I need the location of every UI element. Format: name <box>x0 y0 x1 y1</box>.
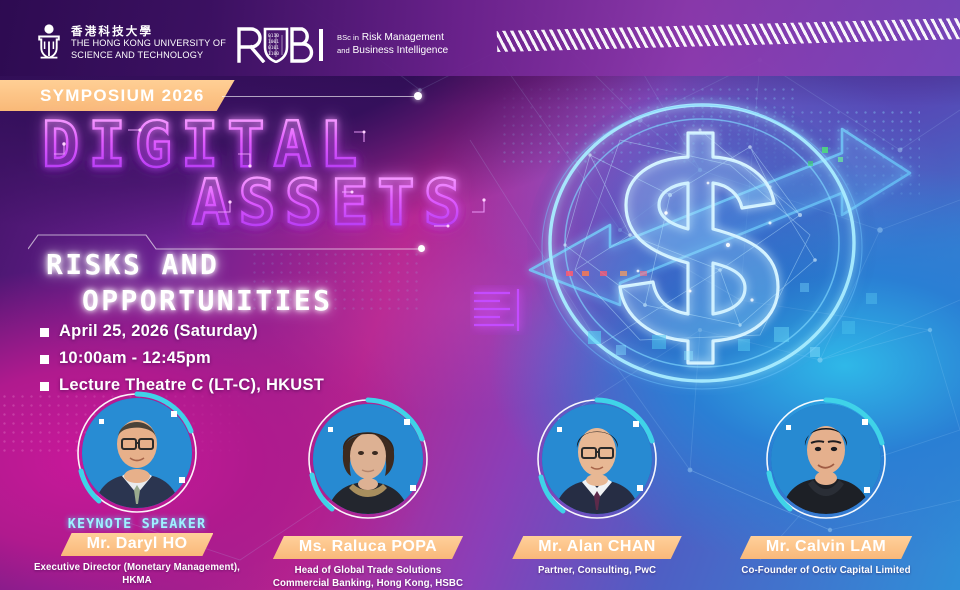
speaker-title: Partner, Consulting, PwC <box>482 564 712 577</box>
rmbi-tagline-main1: Risk Management <box>362 32 444 43</box>
subtitle-line1: RISKS AND <box>46 248 219 281</box>
speaker-photo-wrap <box>82 398 192 508</box>
rmbi-logo: 0110 1001 0101 1100 BSc in Risk Manageme… <box>237 27 448 61</box>
hkust-logo: 香港科技大學 THE HONG KONG UNIVERSITY OF SCIEN… <box>36 24 226 62</box>
rmbi-wordmark: 0110 1001 0101 1100 <box>237 27 329 61</box>
speaker-list: KEYNOTE SPEAKER Mr. Daryl HO Executive D… <box>0 398 960 590</box>
speaker-photo-wrap <box>313 404 423 514</box>
speaker-card-3: Mr. Alan CHAN Partner, Consulting, PwC <box>482 404 712 577</box>
speaker-title-line1: Partner, Consulting, PwC <box>482 564 712 577</box>
speaker-name: Ms. Raluca POPA <box>299 538 437 555</box>
hkust-name-en-line1: THE HONG KONG UNIVERSITY OF <box>71 38 226 50</box>
speaker-name-banner: Ms. Raluca POPA <box>273 536 463 559</box>
speaker-title-line1: Co-Founder of Octiv Capital Limited <box>711 564 941 577</box>
speaker-card-2: Ms. Raluca POPA Head of Global Trade Sol… <box>253 404 483 590</box>
speaker-title: Head of Global Trade Solutions Commercia… <box>253 564 483 590</box>
rmbi-tagline-line2: and Business Intelligence <box>337 44 448 57</box>
speaker-ring-decoration <box>764 397 888 521</box>
main-title: DIGITAL ASSETS <box>42 108 562 233</box>
symposium-label: SYMPOSIUM 2026 <box>40 86 205 106</box>
speaker-name-banner: Mr. Alan CHAN <box>512 536 682 559</box>
speaker-name-banner: Mr. Calvin LAM <box>740 536 912 559</box>
speaker-card-keynote: KEYNOTE SPEAKER Mr. Daryl HO Executive D… <box>22 398 252 587</box>
detail-row-date: April 25, 2026 (Saturday) <box>40 322 324 341</box>
speaker-name: Mr. Daryl HO <box>87 535 188 552</box>
keynote-badge: KEYNOTE SPEAKER <box>22 515 252 530</box>
keynote-badge-label: KEYNOTE SPEAKER <box>68 516 206 532</box>
rmbi-tagline-line1: BSc in Risk Management <box>337 31 448 44</box>
speaker-title-line1: Head of Global Trade Solutions <box>253 564 483 577</box>
detail-time: 10:00am - 12:45pm <box>59 349 211 368</box>
speaker-name-banner: Mr. Daryl HO <box>61 533 214 556</box>
bullet-square-icon <box>40 382 49 391</box>
speaker-title: Executive Director (Monetary Management)… <box>22 561 252 587</box>
symposium-banner-shape: SYMPOSIUM 2026 <box>0 80 235 111</box>
rmbi-tagline-main2: Business Intelligence <box>353 45 449 56</box>
hkust-name-en-line2: SCIENCE AND TECHNOLOGY <box>71 50 226 62</box>
speaker-title-line1: Executive Director (Monetary Management)… <box>22 561 252 587</box>
detail-row-time: 10:00am - 12:45pm <box>40 349 324 368</box>
subtitle: RISKS AND OPPORTUNITIES <box>46 248 516 318</box>
bullet-square-icon <box>40 355 49 364</box>
detail-date: April 25, 2026 (Saturday) <box>59 322 258 341</box>
speaker-ring-decoration <box>306 397 430 521</box>
speaker-ring-decoration <box>75 391 199 515</box>
speaker-photo-wrap <box>771 404 881 514</box>
speaker-card-4: Mr. Calvin LAM Co-Founder of Octiv Capit… <box>711 404 941 577</box>
subtitle-line2: OPPORTUNITIES <box>82 284 332 317</box>
header-logos: 香港科技大學 THE HONG KONG UNIVERSITY OF SCIEN… <box>36 24 226 62</box>
hkust-mark-icon <box>36 24 62 62</box>
rmbi-tagline-prefix1: BSc in <box>337 33 359 42</box>
rmbi-tagline-prefix2: and <box>337 46 350 55</box>
speaker-name: Mr. Calvin LAM <box>766 538 886 555</box>
symposium-poster: 香港科技大學 THE HONG KONG UNIVERSITY OF SCIEN… <box>0 0 960 590</box>
bullet-square-icon <box>40 328 49 337</box>
speaker-title-line2: Commercial Banking, Hong Kong, HSBC <box>253 577 483 590</box>
speaker-ring-decoration <box>535 397 659 521</box>
speaker-photo-wrap <box>542 404 652 514</box>
symposium-connector-dot <box>414 92 422 100</box>
title-line2: ASSETS <box>192 166 470 239</box>
speaker-name: Mr. Alan CHAN <box>538 538 656 555</box>
symposium-connector-line <box>222 96 417 97</box>
speaker-title: Co-Founder of Octiv Capital Limited <box>711 564 941 577</box>
symposium-banner: SYMPOSIUM 2026 <box>0 80 235 111</box>
hkust-name-chinese: 香港科技大學 <box>71 25 226 38</box>
